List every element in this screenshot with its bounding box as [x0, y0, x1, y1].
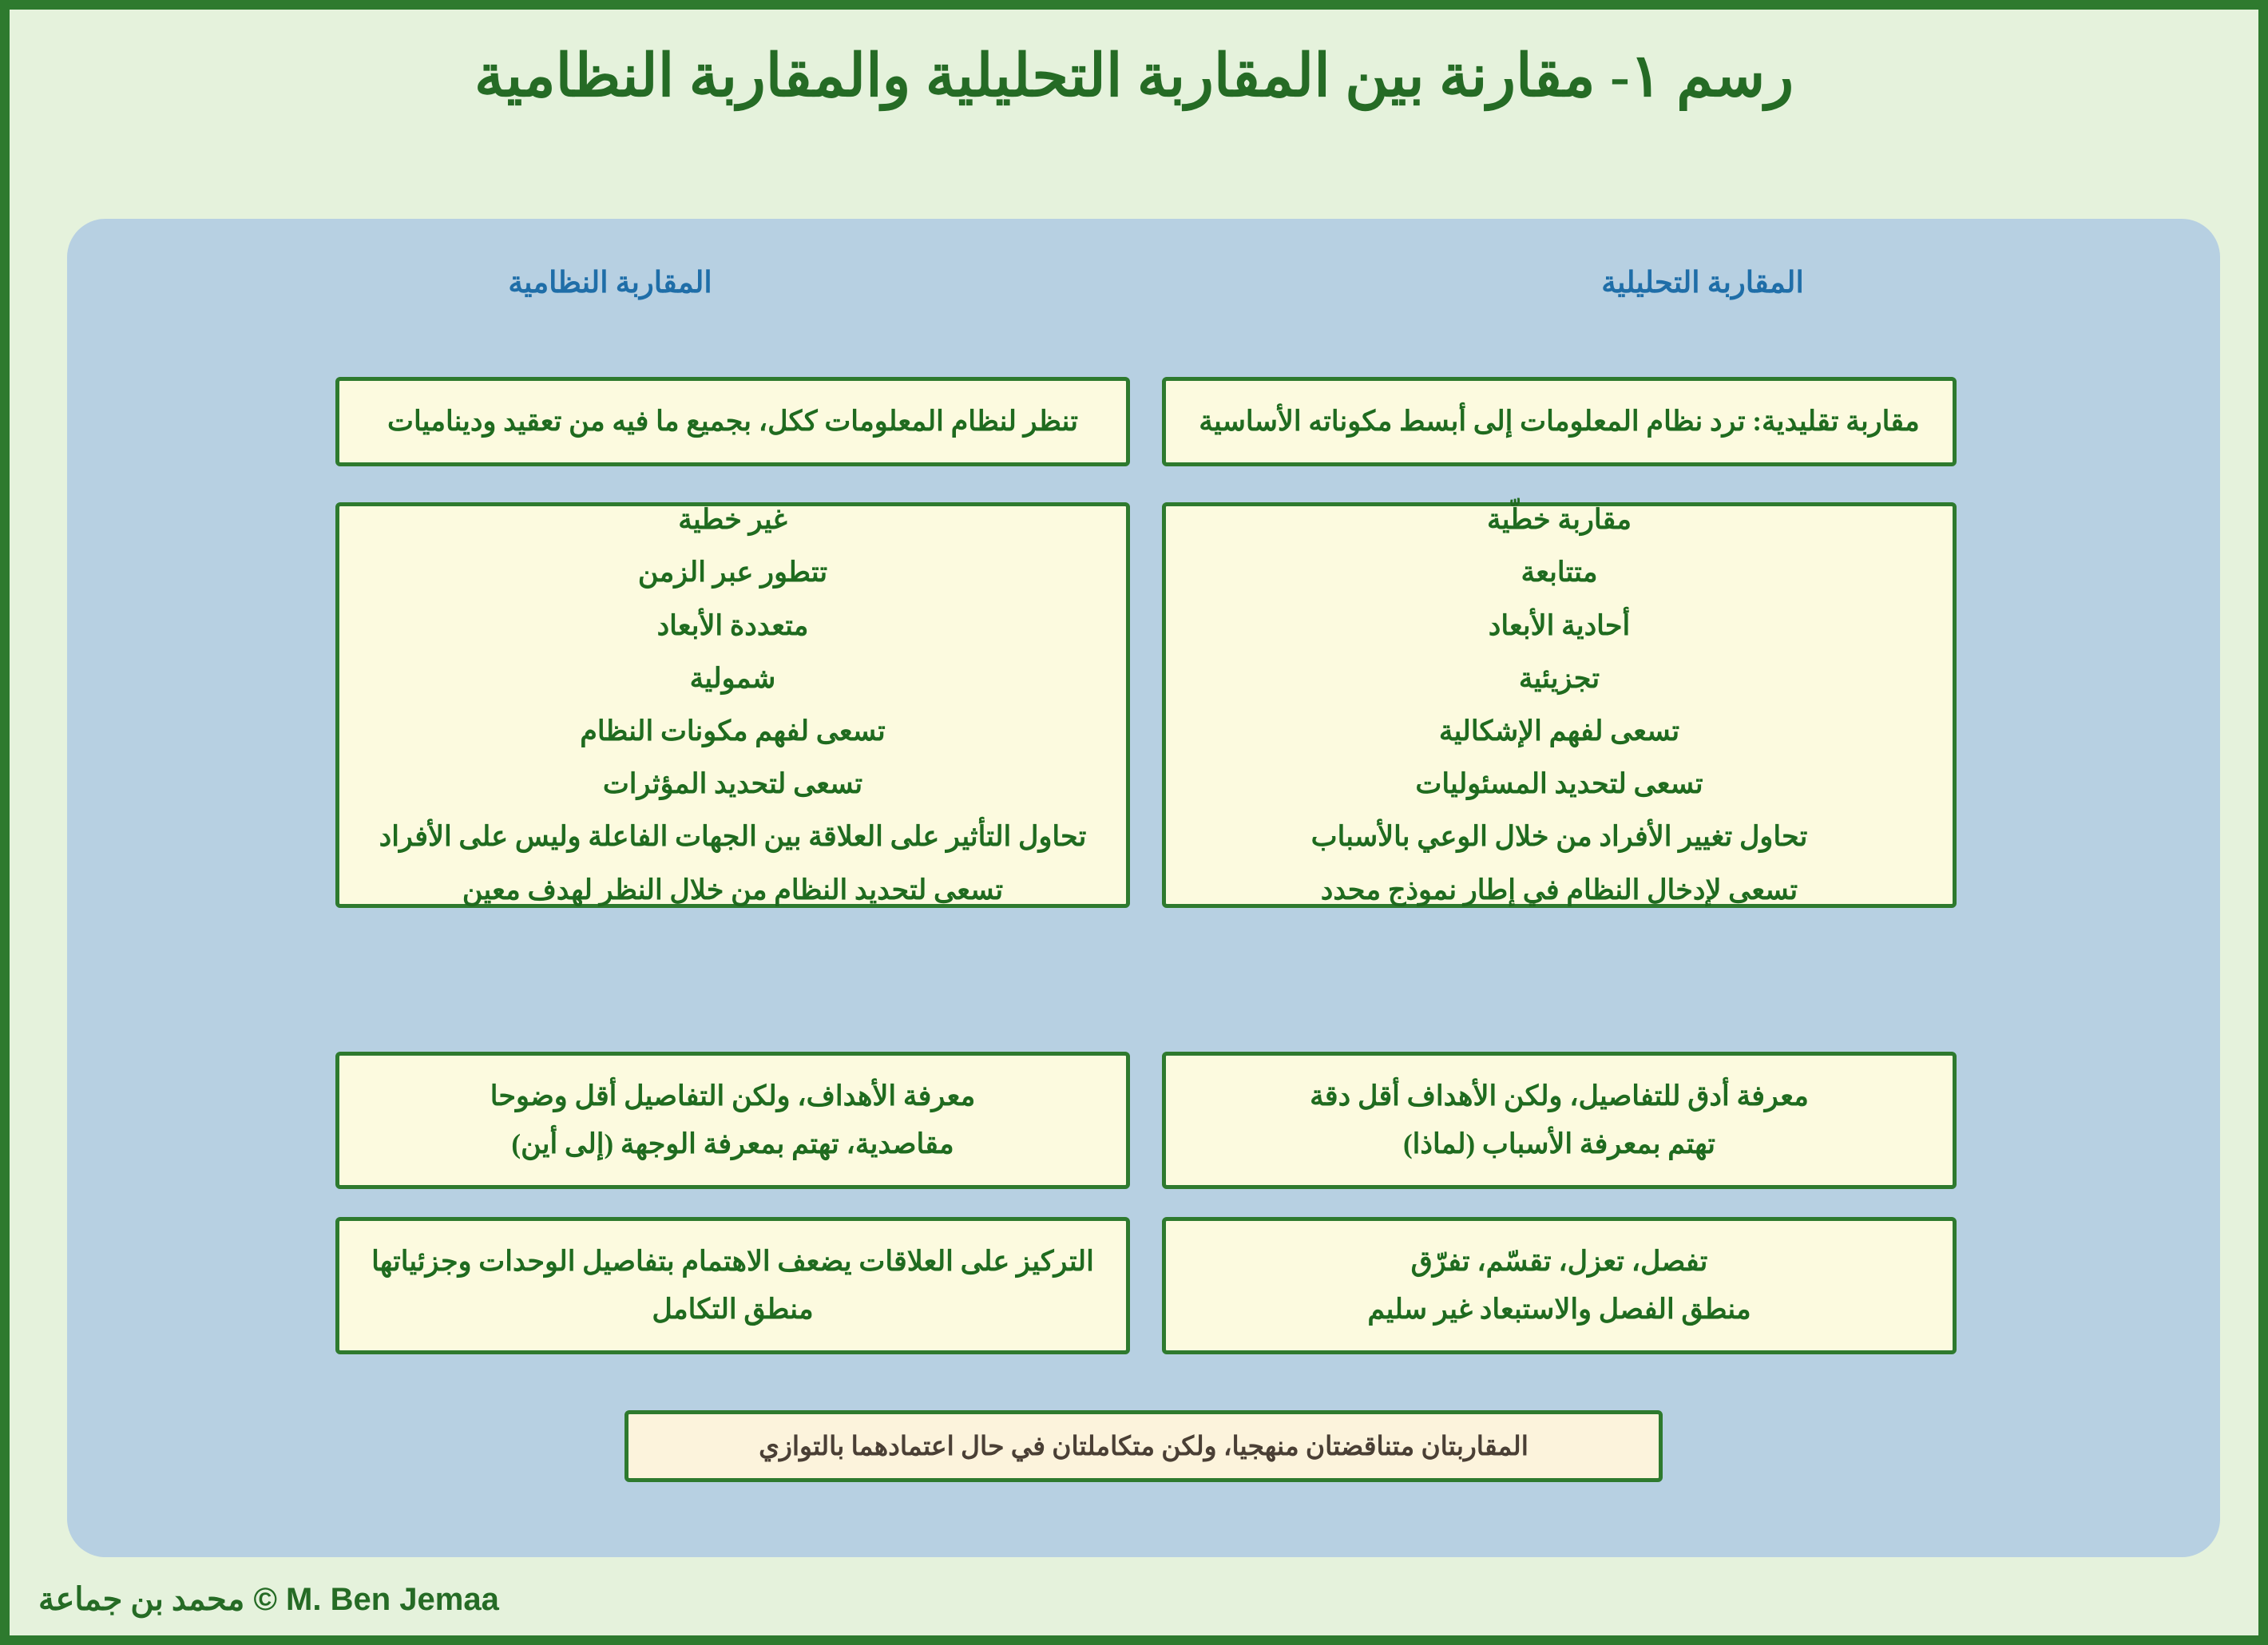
systemic-line: معرفة الأهداف، ولكن التفاصيل أقل وضوحا: [360, 1078, 1105, 1115]
summary-box: المقاربتان متناقضتان منهجيا، ولكن متكامل…: [624, 1410, 1663, 1482]
analytical-box-knowledge: معرفة أدق للتفاصيل، ولكن الأهداف أقل دقة…: [1162, 1052, 1957, 1189]
systemic-line: تتطور عبر الزمن: [360, 554, 1105, 591]
column-header-systemic: المقاربة النظامية: [307, 265, 914, 300]
systemic-line: مقاصدية، تهتم بمعرفة الوجهة (إلى أين): [360, 1126, 1105, 1163]
footer-name-latin: M. Ben Jemaa: [286, 1582, 499, 1617]
systemic-line: تسعى لتحديد المؤثرات: [360, 766, 1105, 803]
systemic-line: شمولية: [360, 660, 1105, 697]
systemic-box-logic: التركيز على العلاقات يضعف الاهتمام بتفاص…: [335, 1217, 1130, 1354]
analytical-line: منطق الفصل والاستبعاد غير سليم: [1187, 1291, 1932, 1328]
analytical-line: مقاربة خطّية: [1187, 501, 1932, 538]
systemic-line: تسعى لتحديد النظام من خلال النظر لهدف مع…: [360, 872, 1105, 909]
column-header-analytical: المقاربة التحليلية: [1399, 265, 2006, 300]
systemic-box-knowledge: معرفة الأهداف، ولكن التفاصيل أقل وضوحا م…: [335, 1052, 1130, 1189]
footer-name-arabic: محمد بن جماعة: [38, 1581, 244, 1617]
analytical-line: تجزيئية: [1187, 660, 1932, 697]
systemic-line: غير خطية: [360, 501, 1105, 538]
systemic-line: منطق التكامل: [360, 1291, 1105, 1328]
page-title: رسم ١- مقارنة بين المقاربة التحليلية وال…: [10, 43, 2258, 111]
analytical-line: مقاربة تقليدية: ترد نظام المعلومات إلى أ…: [1187, 403, 1932, 440]
copyright-icon: ©: [253, 1582, 276, 1617]
analytical-line: تسعى لفهم الإشكالية: [1187, 713, 1932, 750]
systemic-line: تنظر لنظام المعلومات ككل، بجميع ما فيه م…: [360, 403, 1105, 440]
analytical-line: تسعى لإدخال النظام في إطار نموذج محدد: [1187, 872, 1932, 909]
analytical-box-logic: تفصل، تعزل، تقسّم، تفرّق منطق الفصل والا…: [1162, 1217, 1957, 1354]
systemic-box-characteristics: غير خطية تتطور عبر الزمن متعددة الأبعاد …: [335, 502, 1130, 908]
systemic-line: التركيز على العلاقات يضعف الاهتمام بتفاص…: [360, 1243, 1105, 1280]
analytical-line: أحادية الأبعاد: [1187, 608, 1932, 644]
systemic-line: تحاول التأثير على العلاقة بين الجهات الف…: [360, 819, 1105, 855]
analytical-box-characteristics: مقاربة خطّية متتابعة أحادية الأبعاد تجزي…: [1162, 502, 1957, 908]
systemic-line: تسعى لفهم مكونات النظام: [360, 713, 1105, 750]
analytical-line: تفصل، تعزل، تقسّم، تفرّق: [1187, 1243, 1932, 1280]
analytical-line: تحاول تغيير الأفراد من خلال الوعي بالأسب…: [1187, 819, 1932, 855]
diagram-page: رسم ١- مقارنة بين المقاربة التحليلية وال…: [0, 0, 2268, 1645]
analytical-line: معرفة أدق للتفاصيل، ولكن الأهداف أقل دقة: [1187, 1078, 1932, 1115]
comparison-panel: المقاربة التحليلية المقاربة النظامية مقا…: [67, 219, 2220, 1557]
analytical-line: تهتم بمعرفة الأسباب (لماذا): [1187, 1126, 1932, 1163]
analytical-box-definition: مقاربة تقليدية: ترد نظام المعلومات إلى أ…: [1162, 377, 1957, 466]
systemic-line: متعددة الأبعاد: [360, 608, 1105, 644]
analytical-line: متتابعة: [1187, 554, 1932, 591]
analytical-line: تسعى لتحديد المسئوليات: [1187, 766, 1932, 803]
systemic-box-definition: تنظر لنظام المعلومات ككل، بجميع ما فيه م…: [335, 377, 1130, 466]
footer-credit: محمد بن جماعة © M. Ben Jemaa: [38, 1580, 499, 1618]
summary-text: المقاربتان متناقضتان منهجيا، ولكن متكامل…: [759, 1430, 1529, 1462]
